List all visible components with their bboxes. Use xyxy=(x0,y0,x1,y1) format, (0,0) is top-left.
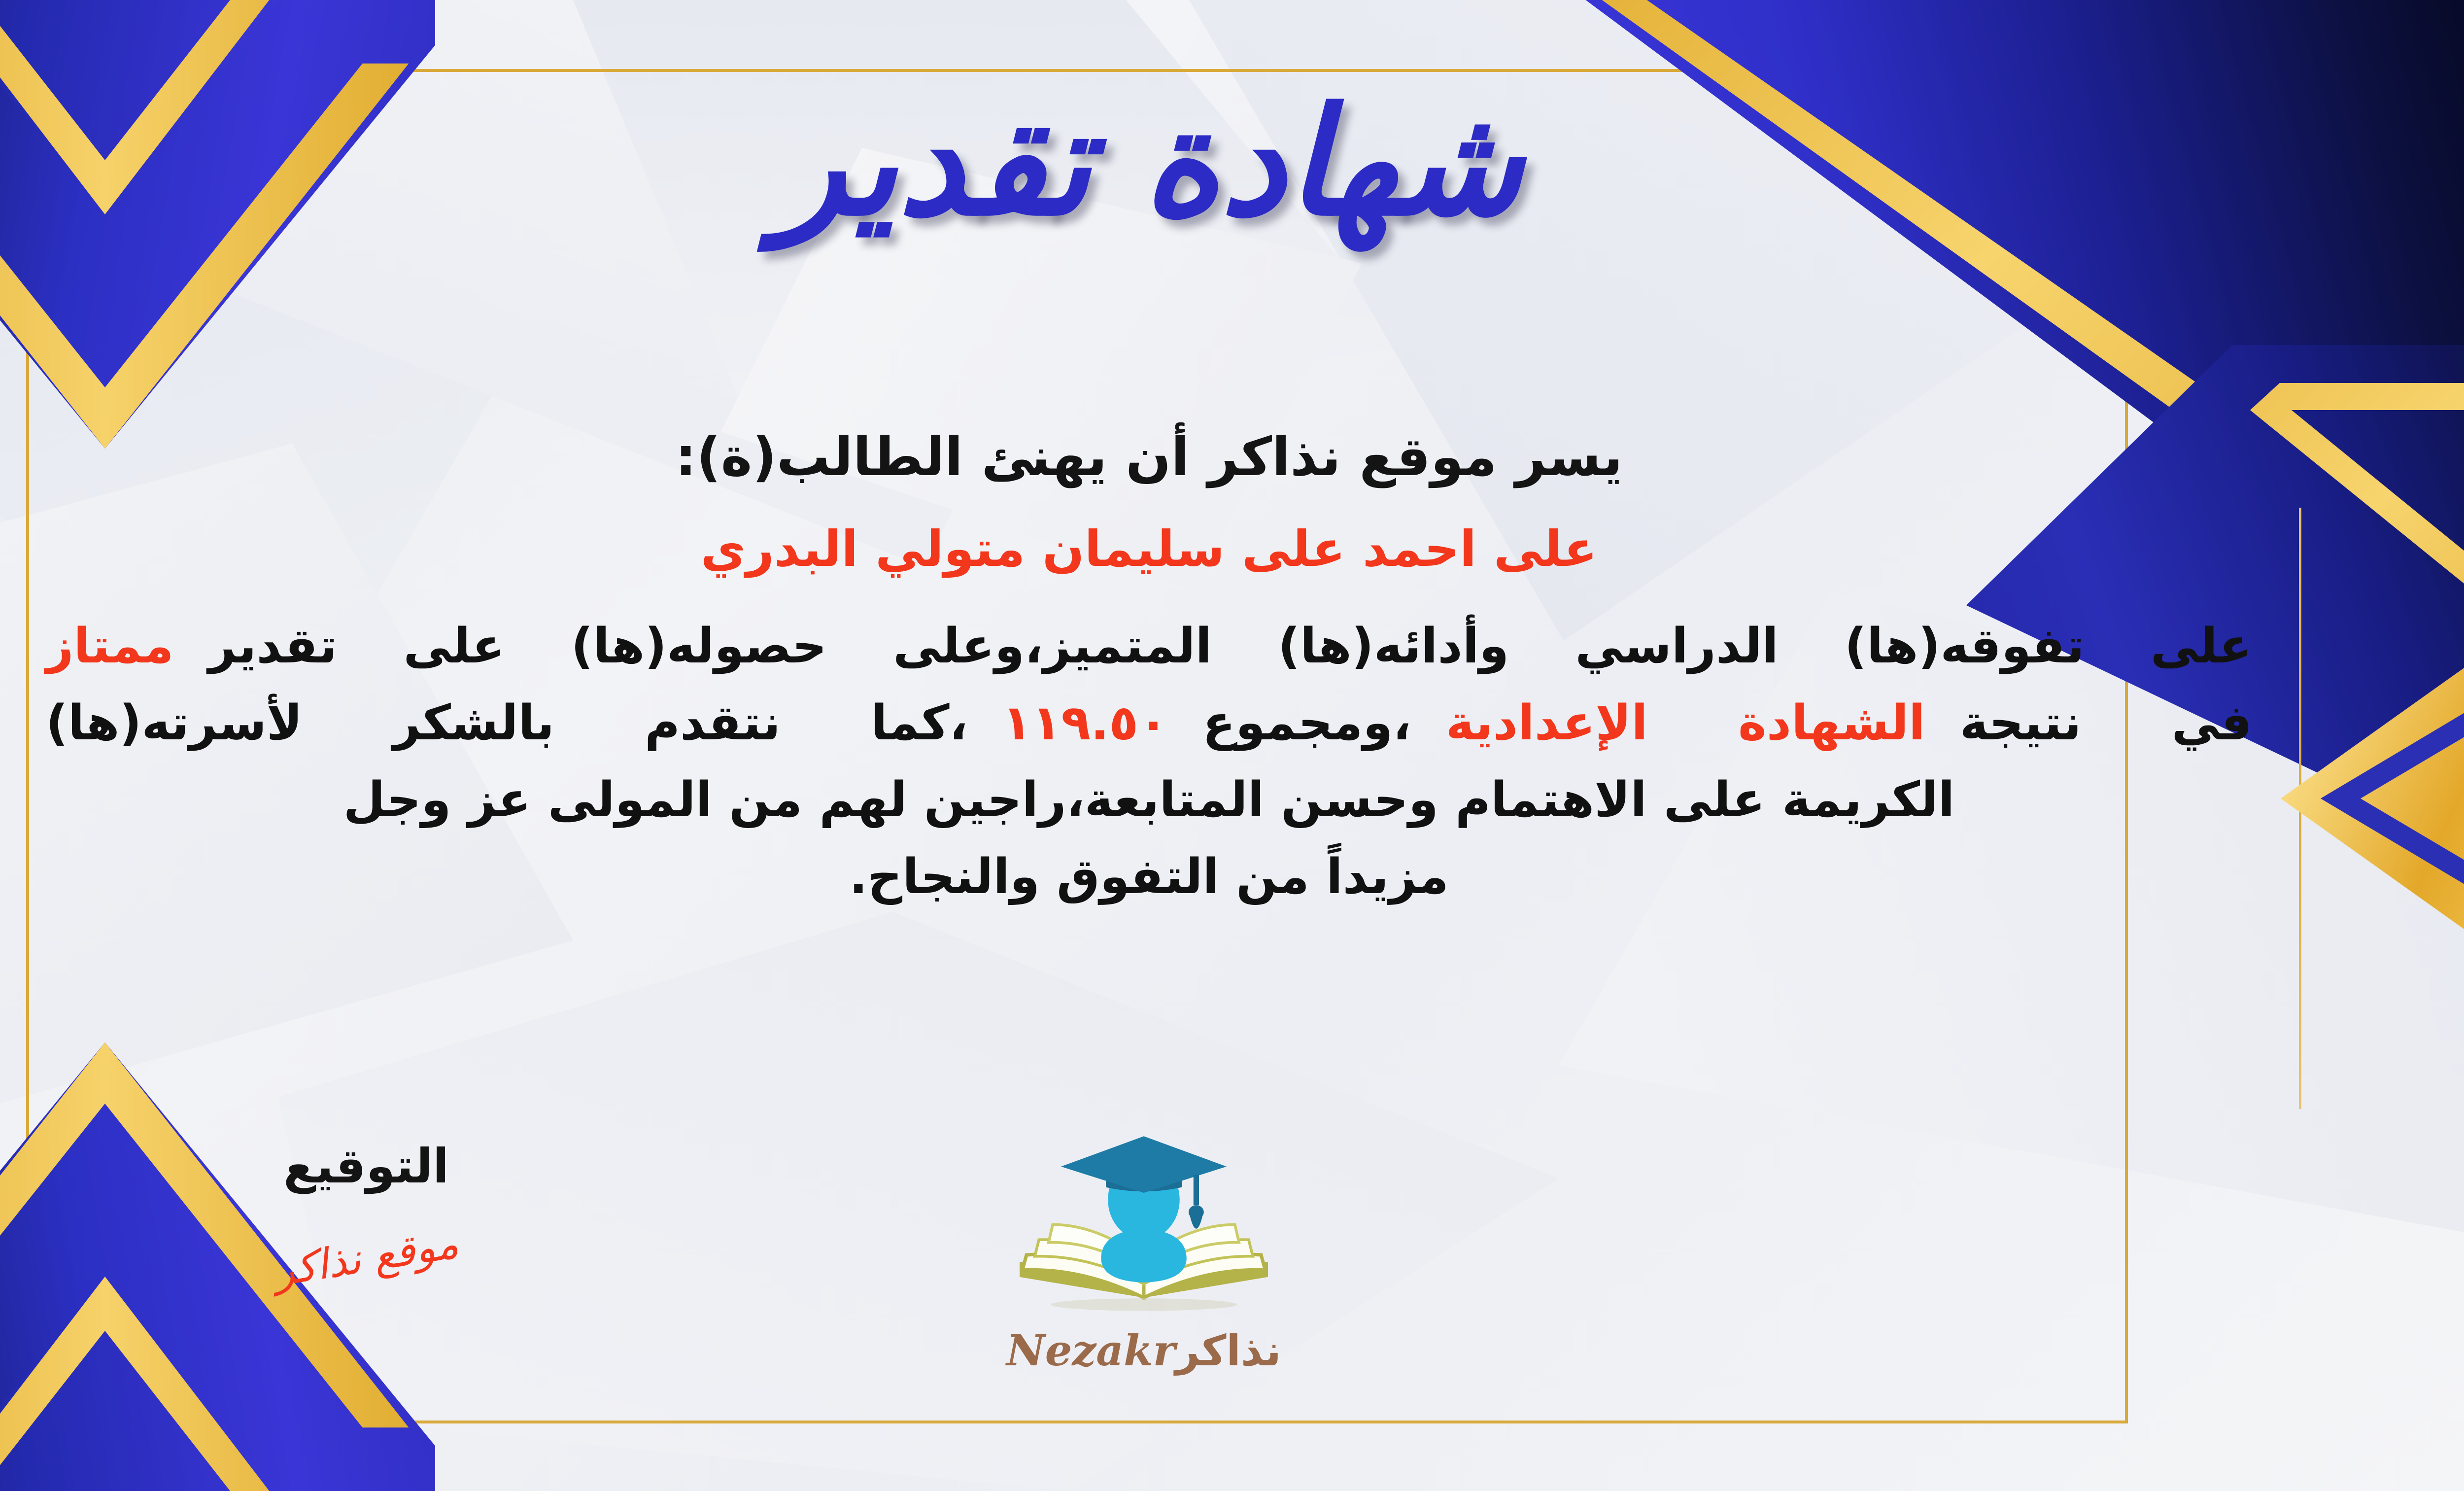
signature-label: التوقيع xyxy=(208,1139,524,1194)
greeting-line: يسر موقع نذاكر أن يهنئ الطالب(ة): xyxy=(46,424,2252,490)
logo-wordmark: Nezakrنذاكر xyxy=(966,1326,1321,1376)
body-paragraph: على تفوقه(ها) الدراسي وأدائه(ها) المتميز… xyxy=(46,611,2252,912)
signature-area: التوقيع موقع نذاكر xyxy=(208,1139,524,1282)
student-name: على احمد على سليمان متولي البدري xyxy=(46,518,2252,580)
logo-name-arabic: نذاكر xyxy=(1175,1326,1281,1376)
body-line-1: على تفوقه(ها) الدراسي وأدائه(ها) المتميز… xyxy=(46,611,2252,681)
exam-name: الشهادة الإعدادية xyxy=(1446,695,1925,751)
body-text-segment: في نتيجة xyxy=(1960,695,2252,751)
certificate-title: شهادة تقدير xyxy=(0,89,2464,237)
body-text-segment: ،ومجموع xyxy=(1202,695,1411,751)
body-text-segment: على تفوقه(ها) الدراسي وأدائه(ها) المتميز… xyxy=(208,618,2252,674)
body-line-4: مزيداً من التفوق والنجاح. xyxy=(46,842,2252,912)
grade-value: ممتاز xyxy=(46,618,174,674)
logo-name-latin: Nezakr xyxy=(1006,1326,1175,1376)
certificate-footer: التوقيع موقع نذاكر xyxy=(0,1124,2464,1429)
body-line-2: في نتيجةالشهادة الإعدادية،ومجموع١١٩.٥٠،ك… xyxy=(46,688,2252,758)
logo-graphic xyxy=(966,1124,1321,1331)
signature-mark: موقع نذاكر xyxy=(271,1219,462,1296)
certificate-content: شهادة تقدير يسر موقع نذاكر أن يهنئ الطال… xyxy=(0,0,2464,1491)
certificate-page: شهادة تقدير يسر موقع نذاكر أن يهنئ الطال… xyxy=(0,0,2464,1491)
body-line-3: الكريمة على الاهتمام وحسن المتابعة،راجين… xyxy=(46,765,2252,835)
certificate-body: يسر موقع نذاكر أن يهنئ الطالب(ة): على اح… xyxy=(46,424,2252,919)
body-text-segment: ،كما نتقدم بالشكر لأسرته(ها) xyxy=(46,695,968,751)
site-logo: Nezakrنذاكر xyxy=(966,1124,1321,1400)
total-score: ١١٩.٥٠ xyxy=(1002,695,1168,751)
